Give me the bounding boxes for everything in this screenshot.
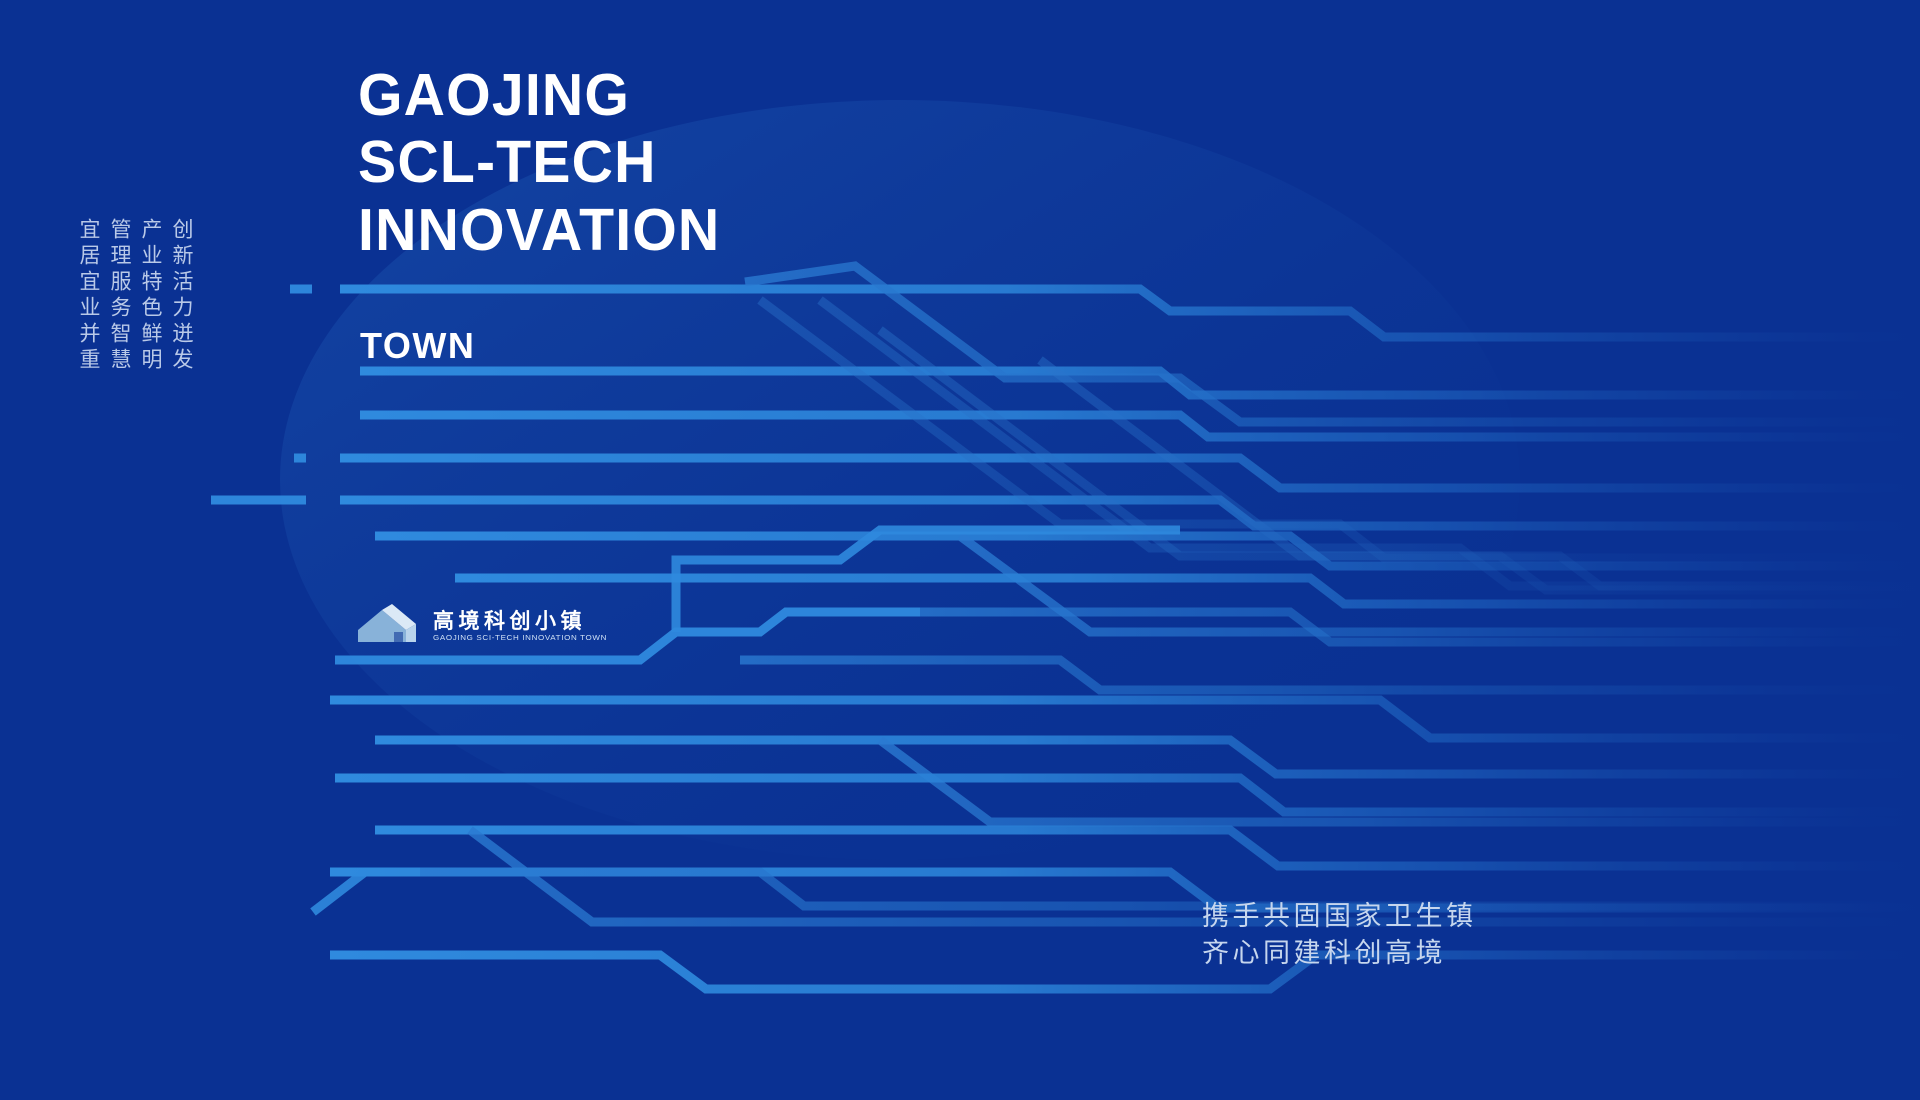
vertical-slogan-line-3: 管理服务智慧 [109,218,130,374]
headline-subline: TOWN [360,325,475,367]
logo-text-block: 高境科创小镇 GAOJING SCI-TECH INNOVATION TOWN [433,611,607,642]
brand-logo: 高境科创小镇 GAOJING SCI-TECH INNOVATION TOWN [356,604,607,648]
headline-line-1: GAOJING [358,62,720,129]
corner-slogan-line-1: 携手共固国家卫生镇 [1202,898,1477,935]
corner-slogan-line-2: 齐心同建科创高境 [1202,935,1477,972]
logo-name-en: GAOJING SCI-TECH INNOVATION TOWN [433,634,607,641]
vertical-slogan-line-2: 产业特色鲜明 [140,218,161,374]
page-title: GAOJING SCL-TECH INNOVATION [358,62,720,264]
headline-line-2: SCL-TECH [358,129,720,196]
headline-line-3: INNOVATION [358,197,720,264]
vertical-slogan-line-1: 创新活力迸发 [171,218,192,374]
corner-slogan: 携手共固国家卫生镇 齐心同建科创高境 [1202,898,1477,973]
circuit-trace-artwork [0,0,1920,1100]
vertical-slogan: 创新活力迸发 产业特色鲜明 管理服务智慧 宜居宜业并重 [78,218,192,374]
vertical-slogan-line-4: 宜居宜业并重 [78,218,99,374]
logo-name-cn: 高境科创小镇 [433,611,607,632]
poster-canvas: 创新活力迸发 产业特色鲜明 管理服务智慧 宜居宜业并重 GAOJING SCL-… [0,0,1920,1100]
house-building-icon [356,604,422,648]
